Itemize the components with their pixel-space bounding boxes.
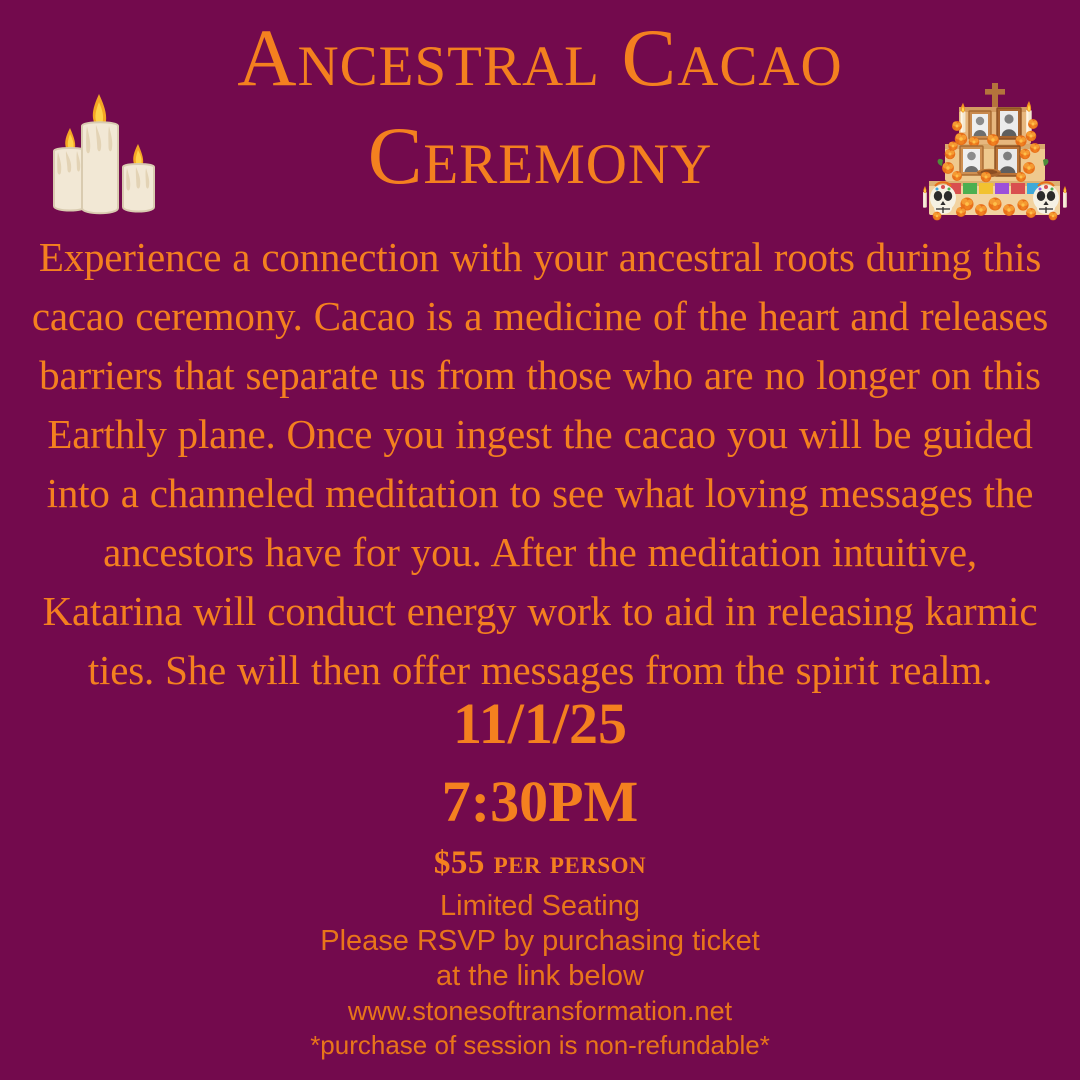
candles-illustration — [30, 88, 165, 223]
event-time: 7:30PM — [0, 768, 1080, 836]
event-date: 11/1/25 — [0, 690, 1080, 758]
rsvp-note-line-2: at the link below — [0, 959, 1080, 994]
candle-body-right — [123, 164, 154, 212]
candle-body-center — [82, 122, 118, 213]
altar-cross-icon — [985, 83, 1005, 107]
event-datetime: 11/1/25 7:30PM — [0, 690, 1080, 836]
ofrenda-altar-illustration — [917, 80, 1072, 230]
body-paragraph: Experience a connection with your ancest… — [28, 228, 1052, 700]
website-link[interactable]: www.stonesoftransformation.net — [0, 994, 1080, 1028]
event-details: $55 per person Limited Seating Please RS… — [0, 843, 1080, 1062]
rsvp-note-line-1: Please RSVP by purchasing ticket — [0, 924, 1080, 959]
flyer-canvas: Ancestral Cacao Ceremony Experience a co… — [0, 0, 1080, 1080]
refund-disclaimer: *purchase of session is non-refundable* — [0, 1028, 1080, 1062]
price-label: $55 per person — [0, 843, 1080, 883]
seating-note: Limited Seating — [0, 889, 1080, 924]
